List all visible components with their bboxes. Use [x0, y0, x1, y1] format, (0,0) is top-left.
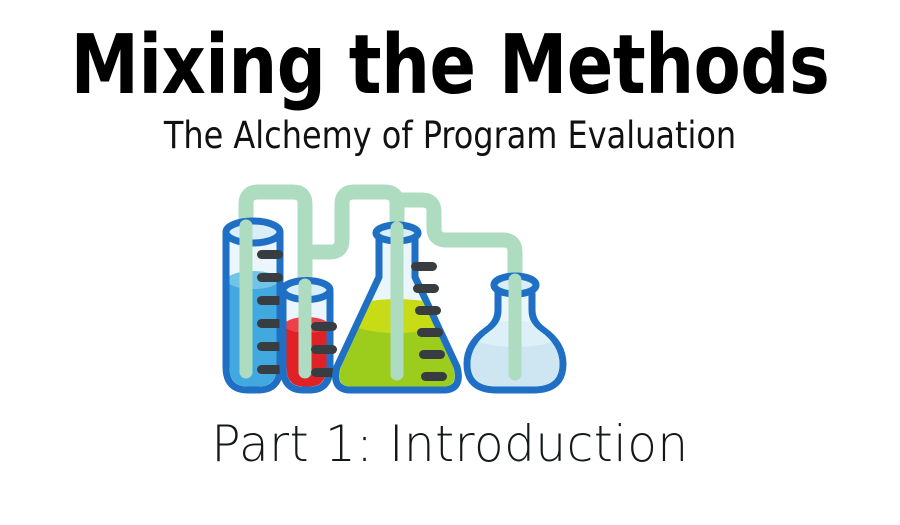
- vessel-erlenmeyer-flask: [327, 225, 473, 401]
- vessel-test-tube-short: [281, 281, 337, 396]
- connected-glassware-svg: [215, 182, 685, 402]
- page-subtitle: The Alchemy of Program Evaluation: [18, 116, 882, 157]
- vessel-test-tube-tall: [225, 221, 285, 395]
- laboratory-illustration: [0, 182, 900, 402]
- title-slide: Mixing the Methods The Alchemy of Progra…: [0, 0, 900, 525]
- tall-tube-rim: [226, 221, 280, 243]
- title-block: Mixing the Methods The Alchemy of Progra…: [0, 26, 900, 157]
- part-label: Part 1: Introduction: [14, 415, 887, 473]
- vessel-round-bottom-flask: [463, 276, 567, 396]
- page-title: Mixing the Methods: [32, 26, 869, 106]
